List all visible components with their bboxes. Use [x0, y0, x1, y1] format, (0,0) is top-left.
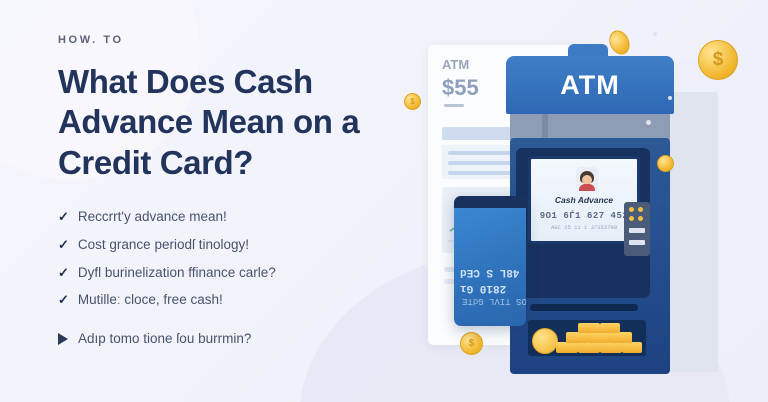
atm-card-slot: [530, 304, 638, 311]
list-item-label: Cost grance periodſ tinology!: [78, 237, 249, 254]
report-atm-label: ATM: [442, 57, 469, 72]
list-item: ✓ Cost grance periodſ tinology!: [58, 237, 418, 254]
sparkle-dot: [668, 96, 672, 100]
benefit-list: ✓ Reccrrtʹy advance mean! ✓ Cost grance …: [58, 209, 418, 310]
atm-cash-tray: [528, 320, 646, 356]
page-title: What Does Cash Advance Mean on a Credit …: [58, 62, 418, 183]
coin-icon: $: [460, 332, 483, 355]
text-column: HOW. TO What Does Cash Advance Mean on a…: [58, 34, 418, 346]
check-icon: ✓: [58, 292, 69, 308]
atm-sign-banner: ATM: [506, 56, 674, 114]
cta-label: Adıp tomo tione ſou burrmin?: [78, 331, 251, 346]
report-amount: $55: [442, 75, 479, 101]
play-triangle-icon: [58, 333, 68, 345]
cta-row[interactable]: Adıp tomo tione ſou burrmin?: [58, 331, 418, 346]
check-icon: ✓: [58, 237, 69, 253]
card-text-line: 1 OS TIVL GdTE: [462, 296, 526, 306]
check-icon: ✓: [58, 265, 69, 281]
screen-card-subtext: AGC 25 11 1 J/1537N0: [531, 224, 637, 231]
atm-neck-seam: [542, 114, 548, 140]
list-item-label: Dyfl burinelization ffinance carle?: [78, 265, 276, 282]
atm-illustration: ATM $55 ADW $: [410, 0, 768, 402]
credit-card: 48L S CEd 2810 Gı 1 OS TIVL GdTE: [454, 196, 526, 326]
list-item: ✓ Reccrrtʹy advance mean!: [58, 209, 418, 226]
coin-icon: [532, 328, 558, 354]
avatar: [576, 167, 598, 191]
card-text-line: 2810 Gı: [460, 282, 506, 294]
card-text-line: 48L S CEd: [460, 266, 519, 278]
coin-icon: $: [698, 40, 738, 80]
coin-icon: [657, 155, 674, 172]
atm-keypad[interactable]: [624, 202, 650, 256]
sparkle-dot: [653, 32, 657, 36]
list-item: ✓ Mutilleː cloce, free cash!: [58, 292, 418, 309]
report-rule: [444, 104, 464, 107]
screen-card-number: 9O1 6Ѓ1 627 452: [531, 211, 637, 221]
banner-illustration: HOW. TO What Does Cash Advance Mean on a…: [0, 0, 768, 402]
check-icon: ✓: [58, 209, 69, 225]
atm-machine: ATM Cash Advance 9O1 6Ѓ1 627 452 AGC 25 …: [506, 52, 674, 372]
sparkle-dot: [646, 120, 651, 125]
eyebrow-label: HOW. TO: [58, 34, 418, 46]
list-item-label: Mutilleː cloce, free cash!: [78, 292, 223, 309]
coin-icon: $: [404, 93, 421, 110]
list-item: ✓ Dyfl burinelization ffinance carle?: [58, 265, 418, 282]
atm-neck: [510, 114, 670, 140]
list-item-label: Reccrrtʹy advance mean!: [78, 209, 227, 226]
card-magnetic-strip: [454, 196, 526, 208]
screen-title: Cash Advance: [531, 195, 637, 205]
atm-sign-label: ATM: [506, 56, 674, 114]
